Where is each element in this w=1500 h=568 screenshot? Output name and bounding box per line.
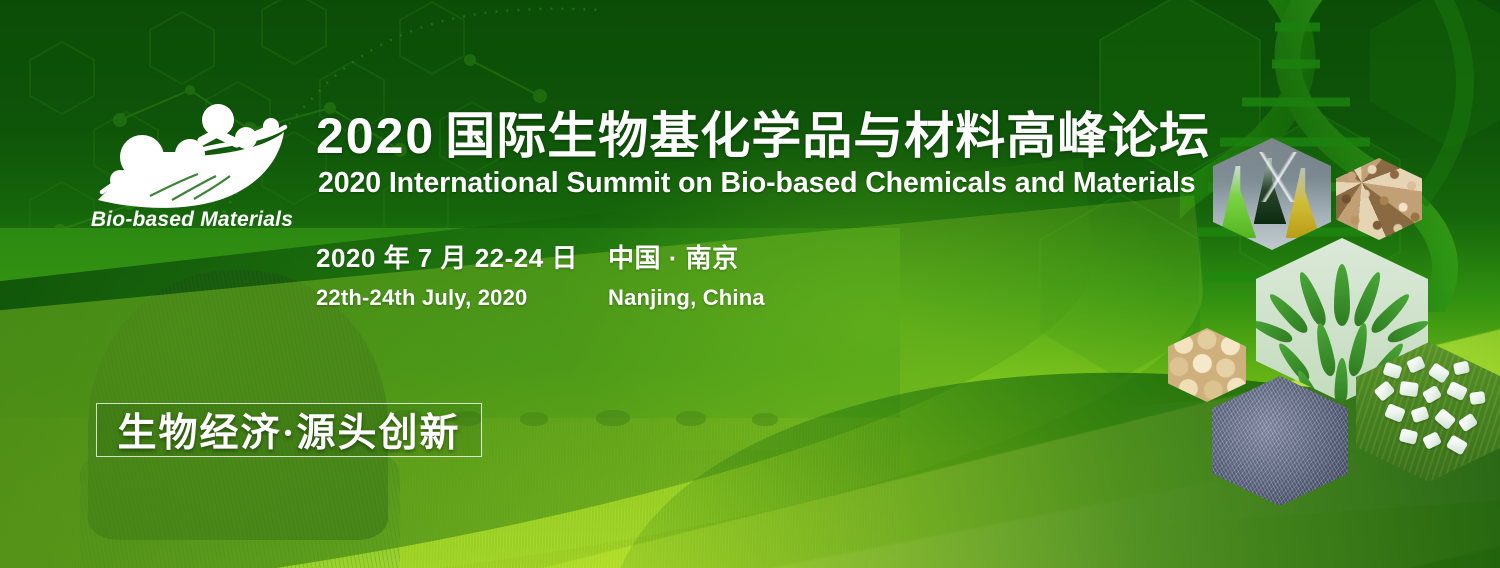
event-place-cn: 中国 · 南京	[608, 238, 739, 275]
lab-flasks-photo	[1213, 138, 1331, 250]
hex-photo-cluster	[1160, 0, 1500, 568]
logo-caption: Bio-based Materials	[86, 208, 298, 232]
title-cn-text: 国际生物基化学品与材料高峰论坛	[445, 108, 1210, 164]
slogan-box: 生物经济·源头创新	[96, 403, 482, 457]
distant-bale	[752, 413, 778, 426]
event-banner: Bio-based Materials 2020国际生物基化学品与材料高峰论坛 …	[0, 0, 1500, 568]
glassware-highlight	[1243, 152, 1313, 202]
event-place-en: Nanjing, China	[608, 285, 765, 311]
distant-bale	[596, 410, 630, 426]
event-meta: 2020 年 7 月 22-24 日 中国 · 南京 22th-24th Jul…	[316, 238, 765, 311]
page-title-en: 2020 International Summit on Bio-based C…	[318, 167, 1196, 200]
slogan-text: 生物经济·源头创新	[117, 402, 460, 458]
event-date-en: 22th-24th July, 2020	[316, 285, 608, 311]
soybeans-photo	[1168, 328, 1246, 402]
page-title-cn: 2020国际生物基化学品与材料高峰论坛	[316, 96, 1210, 168]
logo: Bio-based Materials	[86, 96, 298, 256]
bio-fibre-photo	[1212, 376, 1348, 506]
molecule-leaf-logo-icon	[94, 96, 290, 208]
title-year: 2020	[316, 108, 435, 164]
distant-bale	[676, 411, 706, 426]
event-date-cn: 2020 年 7 月 22-24 日	[316, 238, 608, 275]
distant-bale	[520, 412, 548, 426]
granules-photo	[1336, 158, 1422, 240]
